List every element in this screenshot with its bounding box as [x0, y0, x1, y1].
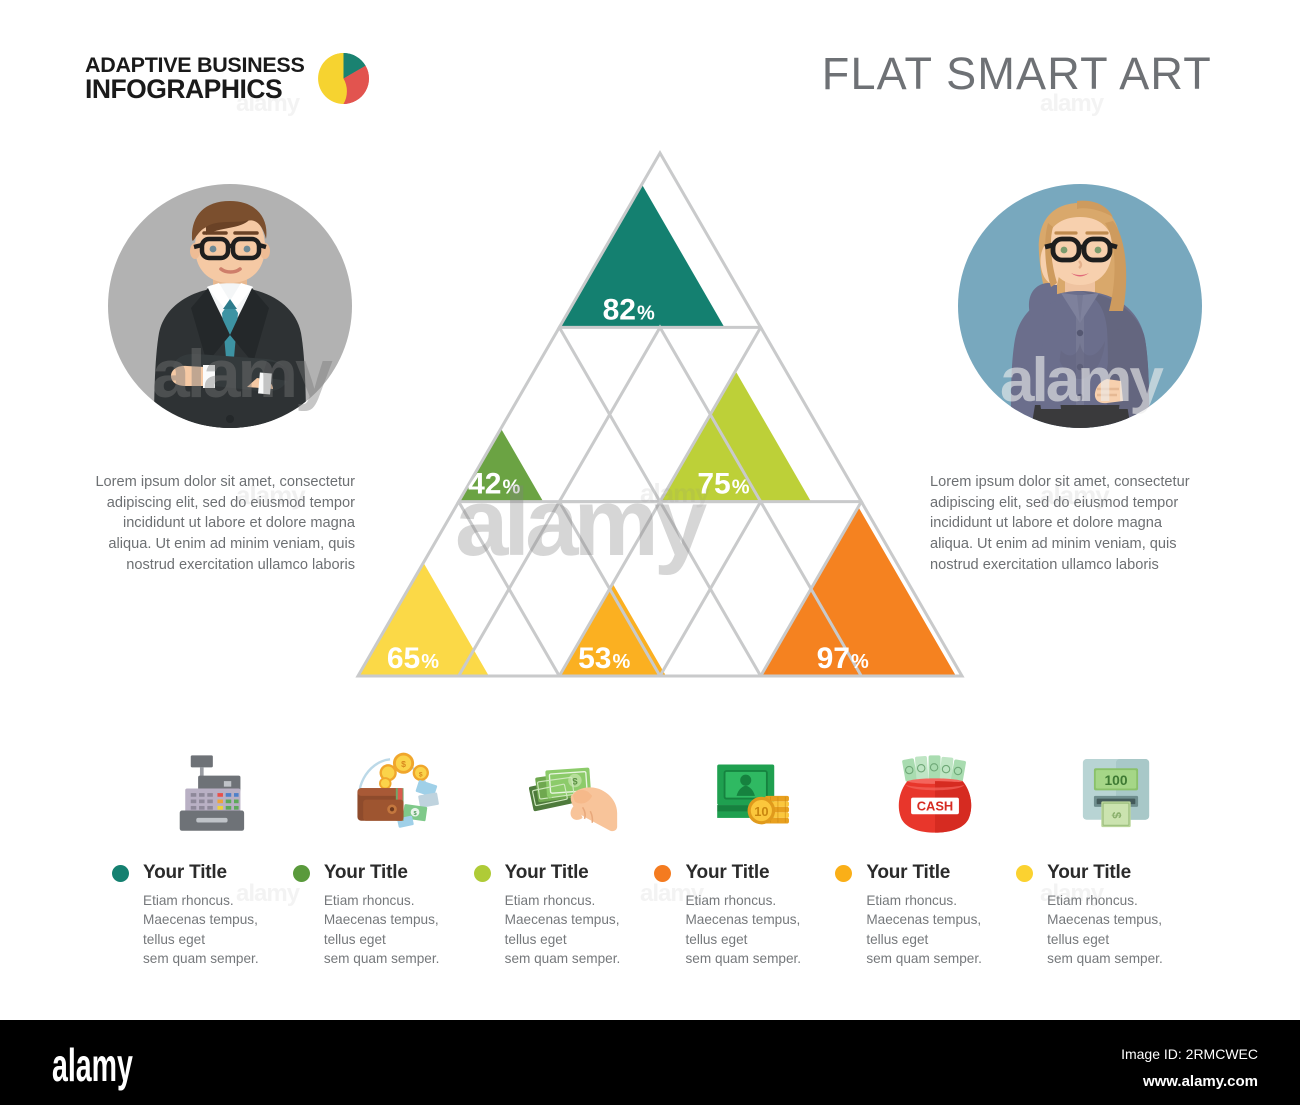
svg-text:CASH: CASH [916, 799, 952, 814]
legend-dot [112, 865, 129, 882]
legend-dot [474, 865, 491, 882]
legend-icon-wrap: $ $ [474, 740, 655, 840]
legend-item[interactable]: Your Title Etiam rhoncus. Maecenas tempu… [112, 740, 293, 968]
svg-text:10: 10 [754, 804, 768, 819]
left-description: Lorem ipsum dolor sit amet, consectetur … [85, 472, 355, 576]
wallet-coins-icon: $ $ $ [344, 744, 440, 840]
legend-item[interactable]: 10 Your Title Etiam rhoncus. Maecenas te… [654, 740, 835, 968]
atm-machine-icon: 100 $ [1070, 748, 1162, 840]
legend-icon-wrap: $ $ $ [293, 740, 474, 840]
legend-body: Etiam rhoncus. Maecenas tempus, tellus e… [866, 891, 1016, 968]
legend-title: Your Title [1047, 862, 1131, 884]
alamy-logo: alamy [52, 1038, 133, 1092]
legend: Your Title Etiam rhoncus. Maecenas tempu… [112, 740, 1197, 968]
infographic-canvas: ADAPTIVE BUSINESS INFOGRAPHICS FLAT SMAR… [0, 0, 1300, 1020]
legend-dot [293, 865, 310, 882]
legend-dot [1016, 865, 1033, 882]
image-id: Image ID: 2RMCWEC [1121, 1046, 1258, 1062]
hand-cash-icon: $ $ [525, 744, 621, 840]
pyramid-chart: 82%42%75%65%53%97% [340, 140, 980, 688]
legend-header: Your Title [654, 862, 835, 884]
legend-body: Etiam rhoncus. Maecenas tempus, tellus e… [685, 891, 835, 968]
legend-item[interactable]: $ $ Your Title Etiam rhoncus. Maec [474, 740, 655, 968]
cash-bag-icon: CASH [889, 748, 981, 840]
brand-logo-line2: INFOGRAPHICS [85, 76, 305, 104]
page-title: FLAT SMART ART [822, 48, 1212, 100]
banknote-coins-icon: 10 [708, 748, 800, 840]
legend-icon-wrap [112, 740, 293, 840]
cash-register-icon [165, 748, 257, 840]
pyramid-fills [358, 184, 956, 676]
legend-title: Your Title [324, 862, 408, 884]
brand-logo-line1: ADAPTIVE BUSINESS [85, 54, 305, 76]
alamy-url: www.alamy.com [1143, 1073, 1258, 1090]
legend-dot [654, 865, 671, 882]
legend-item[interactable]: CASH Your Title Etiam rhoncus. Maecenas … [835, 740, 1016, 968]
legend-icon-wrap: CASH [835, 740, 1016, 840]
legend-item[interactable]: 100 $ Your Title Etiam rhoncus. Maecenas… [1016, 740, 1197, 968]
businesswoman-avatar [957, 183, 1203, 429]
svg-text:$: $ [419, 772, 423, 779]
legend-icon-wrap: 100 $ [1016, 740, 1197, 840]
legend-header: Your Title [1016, 862, 1197, 884]
legend-body: Etiam rhoncus. Maecenas tempus, tellus e… [324, 891, 474, 968]
legend-title: Your Title [685, 862, 769, 884]
legend-body: Etiam rhoncus. Maecenas tempus, tellus e… [1047, 891, 1197, 968]
svg-text:100: 100 [1104, 773, 1127, 788]
legend-header: Your Title [112, 862, 293, 884]
svg-text:$: $ [1109, 812, 1123, 819]
legend-dot [835, 865, 852, 882]
legend-header: Your Title [293, 862, 474, 884]
footer-bar: alamy Image ID: 2RMCWEC www.alamy.com [0, 1020, 1300, 1105]
svg-text:$: $ [401, 759, 406, 769]
legend-header: Your Title [474, 862, 655, 884]
legend-icon-wrap: 10 [654, 740, 835, 840]
brand-logo: ADAPTIVE BUSINESS INFOGRAPHICS [85, 52, 370, 105]
legend-body: Etiam rhoncus. Maecenas tempus, tellus e… [143, 891, 293, 968]
businessman-avatar [107, 183, 353, 429]
legend-body: Etiam rhoncus. Maecenas tempus, tellus e… [505, 891, 655, 968]
legend-title: Your Title [866, 862, 950, 884]
legend-title: Your Title [143, 862, 227, 884]
brand-logo-text: ADAPTIVE BUSINESS INFOGRAPHICS [85, 54, 305, 104]
legend-title: Your Title [505, 862, 589, 884]
pie-chart-icon [317, 52, 370, 105]
legend-header: Your Title [835, 862, 1016, 884]
legend-item[interactable]: $ $ $ [293, 740, 474, 968]
